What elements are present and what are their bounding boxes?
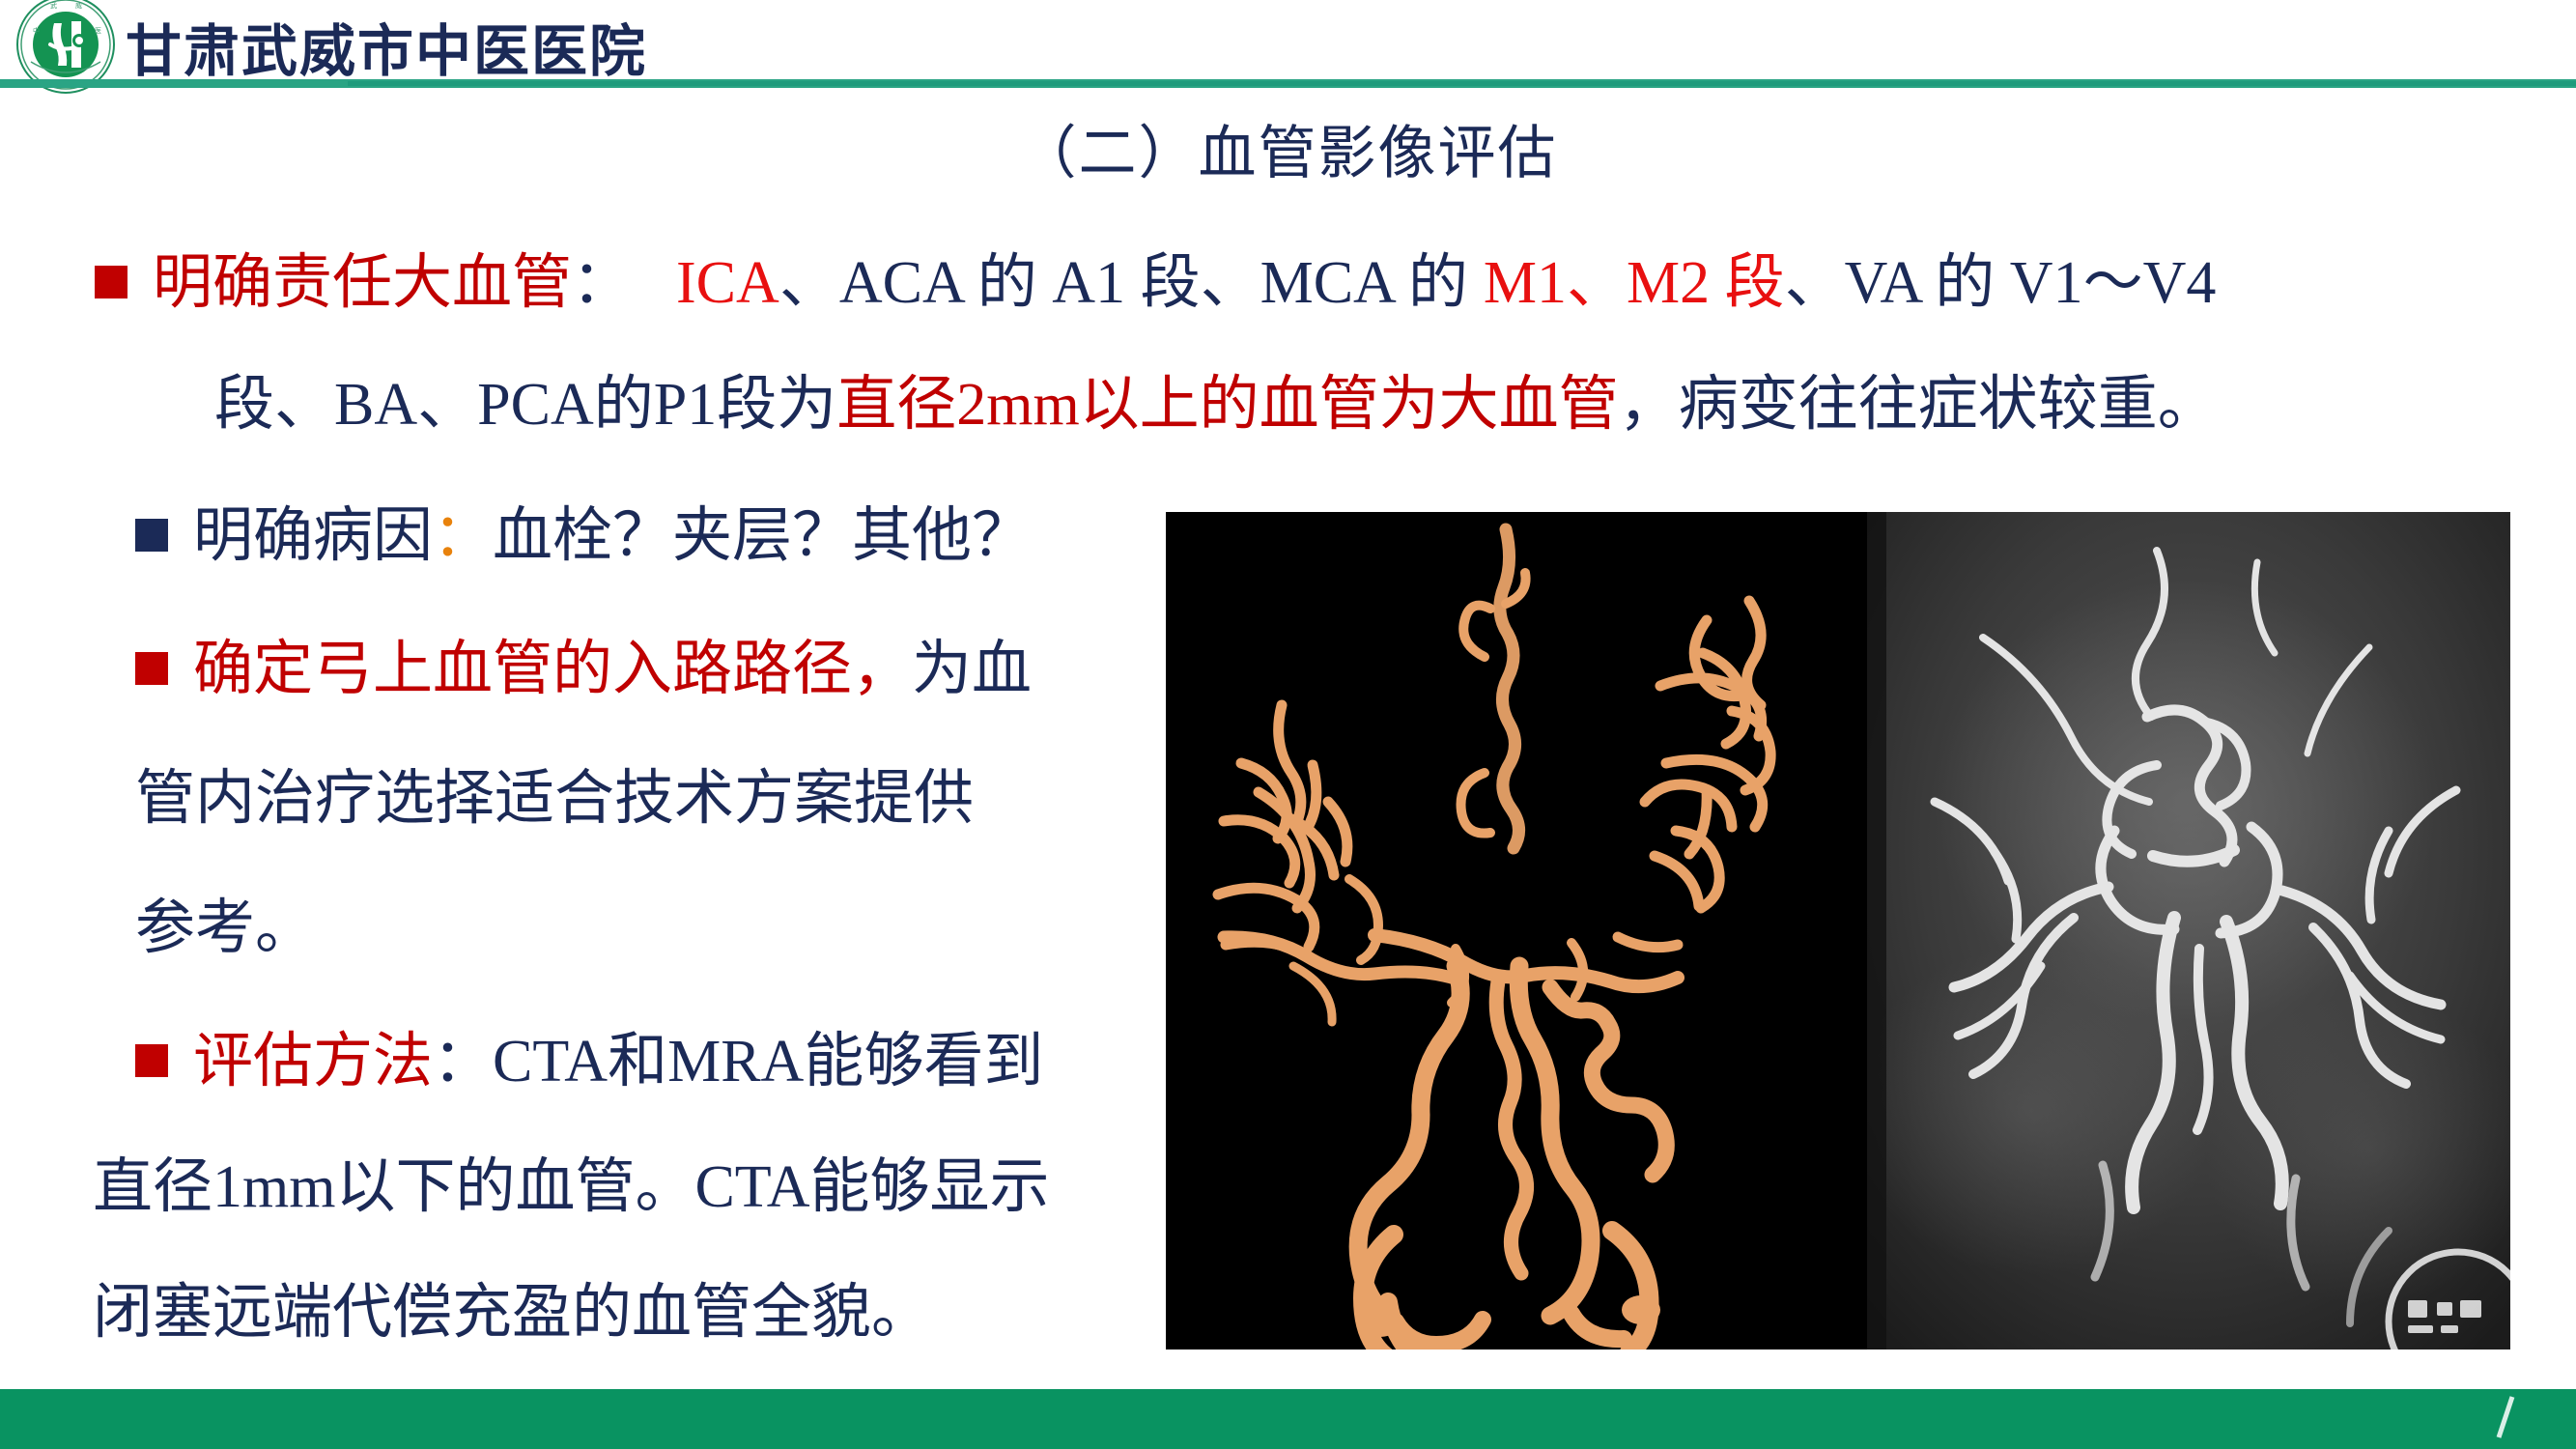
bullet-2-lead: 明确病因 bbox=[193, 503, 433, 569]
bullet-1-ica: ICA bbox=[676, 250, 779, 316]
svg-text:中: 中 bbox=[33, 26, 40, 35]
bullet-2-colon: ： bbox=[433, 503, 493, 569]
bullet-3-lead: 确定弓上血管的入路路径， bbox=[193, 637, 912, 702]
footer-accent-mark bbox=[2491, 1395, 2516, 1439]
svg-text:威: 威 bbox=[75, 1, 82, 10]
bullet-3-l2: 管内治疗选择适合技术方案提供 bbox=[135, 766, 974, 832]
bullet-2-line-1: 明确病因：血栓？夹层？其他？ bbox=[135, 506, 1032, 566]
bullet-marker-4 bbox=[135, 1044, 168, 1077]
bullet-4-lead: 评估方法 bbox=[193, 1029, 433, 1094]
cta-3d-vessel-reconstruction bbox=[1166, 512, 1867, 1350]
bullet-1-l2-c: ，病变往往症状较重。 bbox=[1619, 372, 2218, 438]
mra-vessel-angiogram bbox=[1867, 512, 2510, 1350]
bullet-1-seg-a: 、ACA 的 A1 段、MCA 的 bbox=[779, 250, 1468, 316]
bullet-4-l3: 闭塞远端代偿充盈的血管全貌。 bbox=[93, 1280, 931, 1346]
slide-header: 武 威 中 医 甘肃武威市中医医院 bbox=[0, 0, 2576, 87]
bullet-4-line-3: 闭塞远端代偿充盈的血管全貌。 bbox=[93, 1283, 931, 1343]
bullet-1-seg-b: 、VA 的 V1～V4 bbox=[1785, 250, 2217, 316]
svg-text:武: 武 bbox=[50, 1, 57, 10]
header-divider-rule-accent bbox=[348, 81, 2576, 86]
bullet-3-line-2: 管内治疗选择适合技术方案提供 bbox=[135, 769, 974, 829]
bullet-1-lead: 明确责任大血管 bbox=[153, 250, 572, 316]
bullet-4-l2: 直径1mm以下的血管。CTA能够显示 bbox=[93, 1154, 1050, 1220]
bullet-2-body: 血栓？夹层？其他？ bbox=[493, 503, 1032, 569]
slide-footer-bar bbox=[0, 1389, 2576, 1449]
bullet-4-line-1: 评估方法：CTA和MRA能够看到 bbox=[135, 1032, 1043, 1092]
svg-text:医: 医 bbox=[95, 27, 101, 35]
bullet-3-tail: 为血 bbox=[912, 637, 1032, 702]
bullet-4-line-2: 直径1mm以下的血管。CTA能够显示 bbox=[93, 1157, 1050, 1217]
bullet-3-line-3: 参考。 bbox=[135, 898, 315, 958]
bullet-marker-2 bbox=[135, 519, 168, 552]
bullet-1-line-1: 明确责任大血管：ICA、ACA 的 A1 段、MCA 的M1、M2 段、VA 的… bbox=[95, 253, 2216, 313]
bullet-marker-3 bbox=[135, 652, 168, 685]
bullet-1-l2-a: 段、BA、PCA的P1段为 bbox=[214, 372, 836, 438]
hospital-name: 甘肃武威市中医医院 bbox=[126, 6, 647, 87]
bullet-1-l2-highlight: 直径2mm以上的血管为大血管 bbox=[836, 372, 1618, 438]
bullet-1-line-2: 段、BA、PCA的P1段为直径2mm以上的血管为大血管，病变往往症状较重。 bbox=[214, 375, 2218, 435]
bullet-marker-1 bbox=[95, 266, 127, 298]
bullet-1-colon: ： bbox=[572, 250, 632, 316]
bullet-4-colon: ： bbox=[433, 1029, 493, 1094]
page-title: （二）血管影像评估 bbox=[0, 106, 2576, 190]
bullet-1-m-seg: M1、M2 段 bbox=[1484, 250, 1785, 316]
bullet-3-l3: 参考。 bbox=[135, 895, 315, 961]
bullet-4-body: CTA和MRA能够看到 bbox=[493, 1029, 1043, 1094]
bullet-3-line-1: 确定弓上血管的入路路径，为血 bbox=[135, 639, 1032, 699]
